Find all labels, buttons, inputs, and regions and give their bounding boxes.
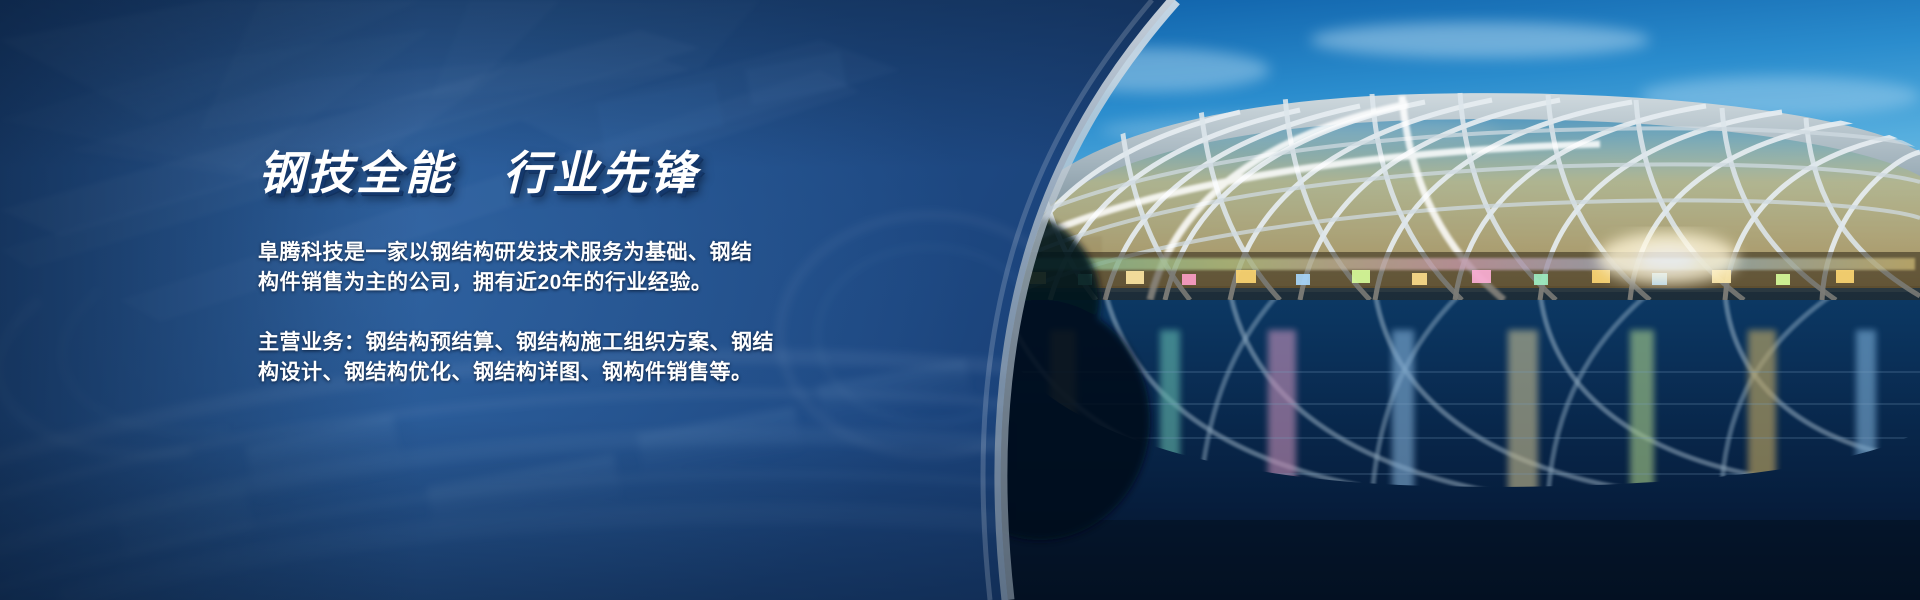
paragraph-line: 构件销售为主的公司，拥有近20年的行业经验。 [258,268,778,298]
paragraph-main-business: 主营业务：钢结构预结算、钢结构施工组织方案、钢结 构设计、钢结构优化、钢结构详图… [258,328,778,388]
paragraph-company-intro: 阜腾科技是一家以钢结构研发技术服务为基础、钢结 构件销售为主的公司，拥有近20年… [258,238,778,298]
paragraph-line: 主营业务：钢结构预结算、钢结构施工组织方案、钢结 [258,328,778,358]
banner-copy: 钢技全能 行业先锋 阜腾科技是一家以钢结构研发技术服务为基础、钢结 构件销售为主… [258,146,778,388]
paragraph-line: 阜腾科技是一家以钢结构研发技术服务为基础、钢结 [258,238,778,268]
paragraph-line: 构设计、钢结构优化、钢结构详图、钢构件销售等。 [258,358,778,388]
banner-description: 阜腾科技是一家以钢结构研发技术服务为基础、钢结 构件销售为主的公司，拥有近20年… [258,238,778,388]
hero-banner: 钢技全能 行业先锋 阜腾科技是一家以钢结构研发技术服务为基础、钢结 构件销售为主… [0,0,1920,600]
page-title: 钢技全能 行业先锋 [258,146,778,200]
